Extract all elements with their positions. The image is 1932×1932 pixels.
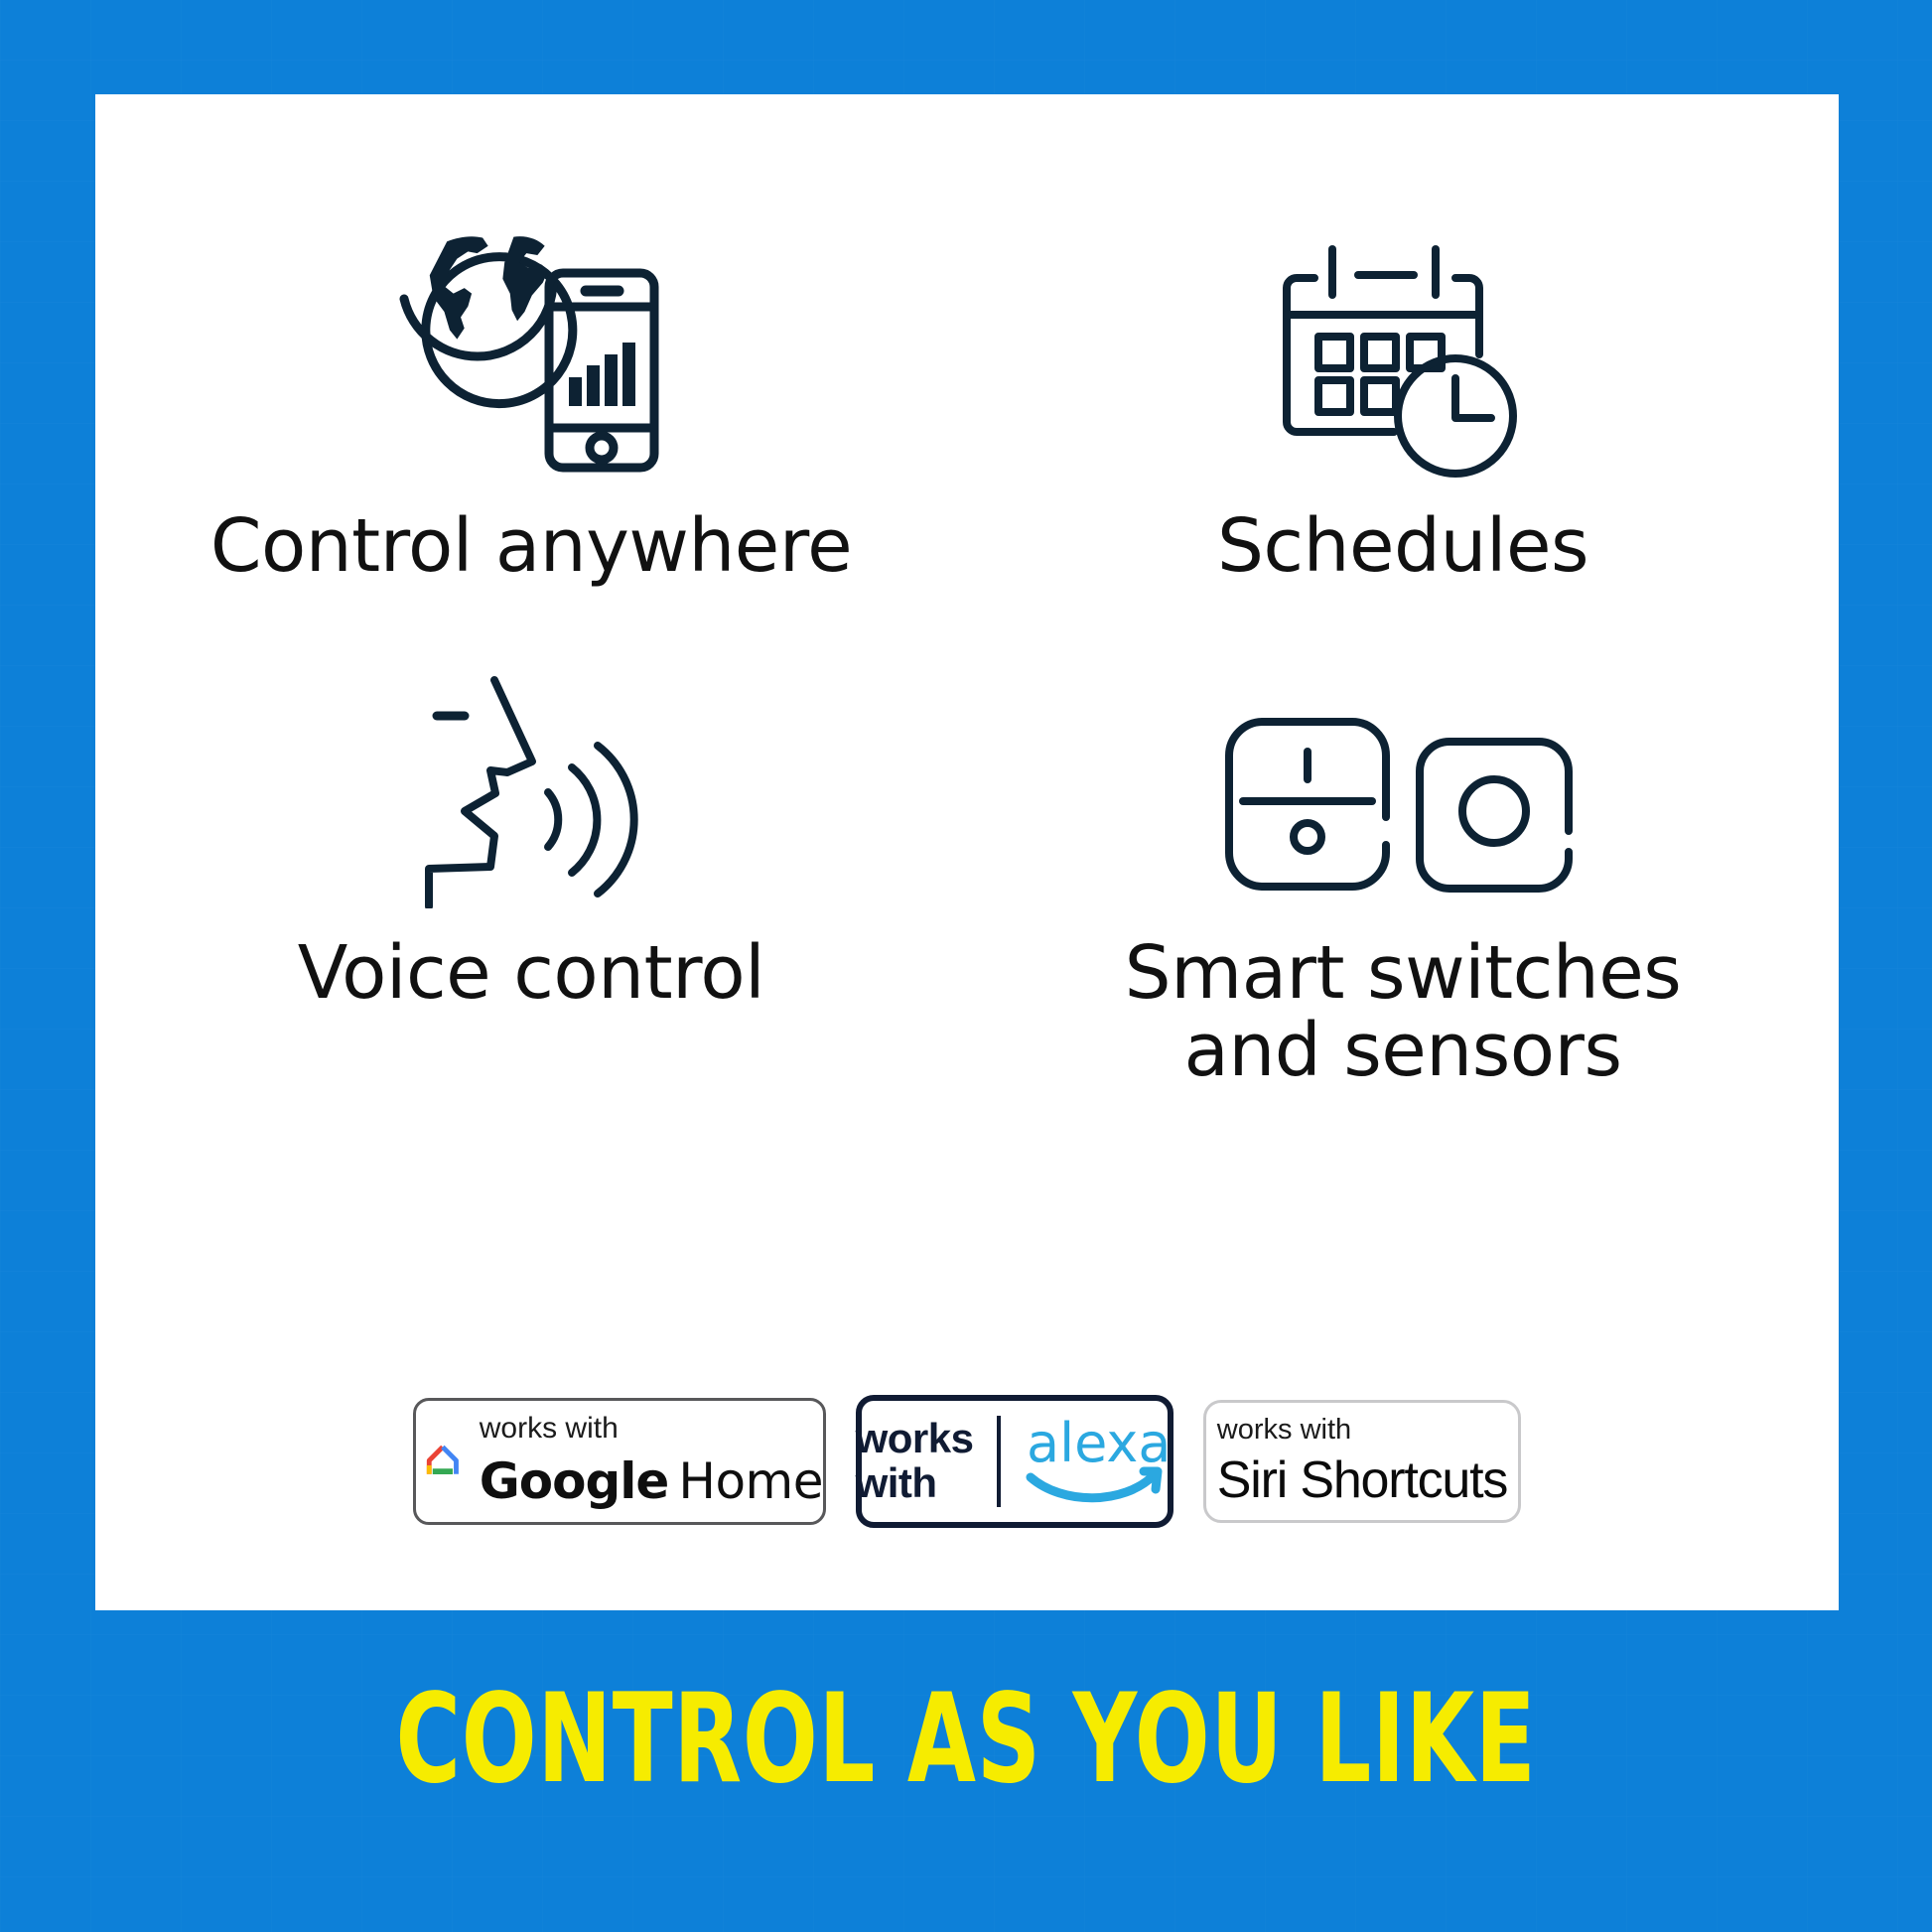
globe-phone-icon: [382, 194, 680, 482]
feature-smart-switches: Smart switches and sensors: [967, 611, 1839, 1090]
feature-schedules: Schedules: [967, 184, 1839, 585]
badge-line1: works with: [480, 1414, 619, 1444]
badge-brand-regular: Home: [678, 1452, 823, 1510]
feature-label: Smart switches and sensors: [1125, 934, 1682, 1090]
compatibility-badges: works with Google Home works with: [95, 1395, 1839, 1528]
alexa-brand-text: alexa: [1027, 1414, 1171, 1474]
feature-label: Schedules: [1217, 507, 1588, 585]
feature-label-line1: Smart switches: [1125, 934, 1682, 1012]
feature-control-anywhere: Control anywhere: [95, 184, 967, 585]
calendar-clock-icon-wrap: [1275, 184, 1531, 482]
badge-line1: works with: [1217, 1414, 1351, 1447]
promo-graphic: Control anywhere: [0, 0, 1932, 1932]
badge-works-with-siri-shortcuts[interactable]: works with Siri Shortcuts: [1203, 1400, 1521, 1523]
speaking-head-icon-wrap: [407, 611, 655, 908]
feature-label: Control anywhere: [210, 507, 852, 585]
calendar-clock-icon: [1275, 233, 1531, 482]
badge-brand-bold: Google: [480, 1452, 669, 1510]
headline-text: CONTROL AS YOU LIKE: [270, 1678, 1661, 1801]
feature-label-line2: and sensors: [1125, 1012, 1682, 1089]
badge-line1: works: [856, 1417, 974, 1461]
speaking-head-icon: [407, 660, 655, 908]
switch-sensor-icon-wrap: [1219, 611, 1587, 908]
feature-voice-control: Voice control: [95, 611, 967, 1012]
white-content-card: Control anywhere: [95, 94, 1839, 1610]
globe-phone-icon-wrap: [382, 184, 680, 482]
feature-label: Voice control: [298, 934, 764, 1012]
alexa-wordmark-icon: alexa: [1025, 1414, 1173, 1509]
feature-grid: Control anywhere: [95, 94, 1839, 1315]
badge-line2: with: [856, 1461, 937, 1506]
badge-works-with-google-home[interactable]: works with Google Home: [413, 1398, 826, 1525]
switch-sensor-icon: [1219, 710, 1587, 908]
badge-works-with-alexa[interactable]: works with alexa: [856, 1395, 1173, 1528]
google-home-icon: [424, 1419, 462, 1504]
badge-brand: Siri Shortcuts: [1217, 1450, 1507, 1510]
